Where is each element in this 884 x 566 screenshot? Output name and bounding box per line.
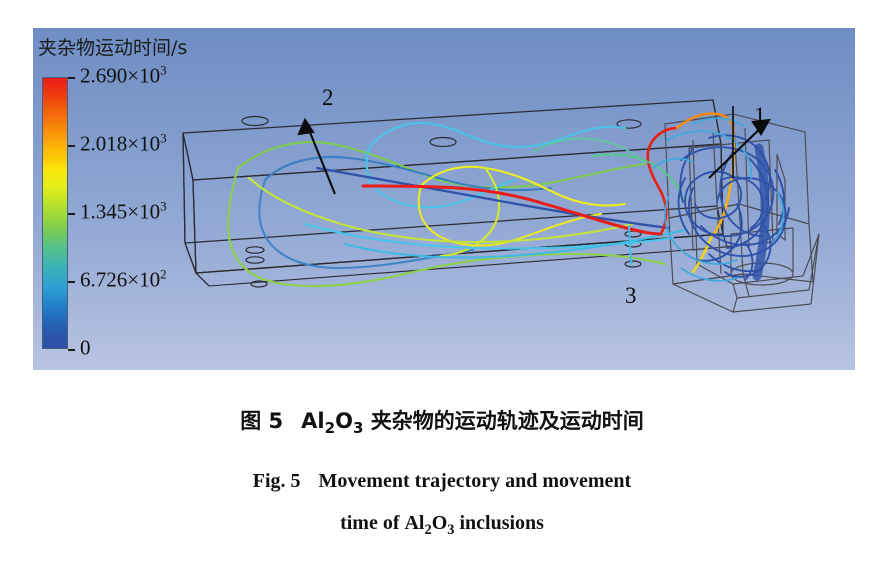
caption-en-text: Movement trajectory and movement xyxy=(319,470,632,492)
caption-en-pre: time of xyxy=(340,512,399,534)
species-formula-en: Al2O3 xyxy=(404,512,454,534)
trajectory-lines xyxy=(228,114,734,286)
figure-caption-english-line2: time of Al2O3 inclusions xyxy=(0,512,884,539)
colorbar-tick xyxy=(68,213,75,215)
figure-number-en: Fig. 5 xyxy=(253,470,301,492)
colorbar-tick xyxy=(68,77,75,79)
caption-en-post: inclusions xyxy=(459,512,543,534)
colorbar-gradient xyxy=(42,77,68,349)
figure-caption-chinese: 图 5Al2O3 夹杂物的运动轨迹及运动时间 xyxy=(0,405,884,437)
colorbar: 2.690×103 2.018×103 1.345×103 6.726×102 … xyxy=(42,77,68,349)
callout-label-3: 3 xyxy=(625,283,637,309)
colorbar-label-max: 2.690×103 xyxy=(80,63,167,89)
colorbar-label: 2.018×103 xyxy=(80,131,167,157)
figure-number-cn: 图 5 xyxy=(240,409,283,433)
caption-cn-text: 夹杂物的运动轨迹及运动时间 xyxy=(371,409,644,433)
colorbar-title: 夹杂物运动时间/s xyxy=(38,33,187,60)
colorbar-label: 1.345×103 xyxy=(80,199,167,225)
colorbar-label-min: 0 xyxy=(80,335,91,360)
colorbar-tick xyxy=(68,145,75,147)
callout-label-1: 1 xyxy=(754,103,766,129)
outlet-core-column xyxy=(757,148,765,276)
colorbar-tick xyxy=(68,349,75,351)
colorbar-label: 6.726×102 xyxy=(80,267,167,293)
callout-label-2: 2 xyxy=(322,85,334,111)
figure-caption-english-line1: Fig. 5Movement trajectory and movement xyxy=(0,470,884,493)
species-formula-cn: Al2O3 xyxy=(301,409,363,433)
colorbar-tick xyxy=(68,281,75,283)
